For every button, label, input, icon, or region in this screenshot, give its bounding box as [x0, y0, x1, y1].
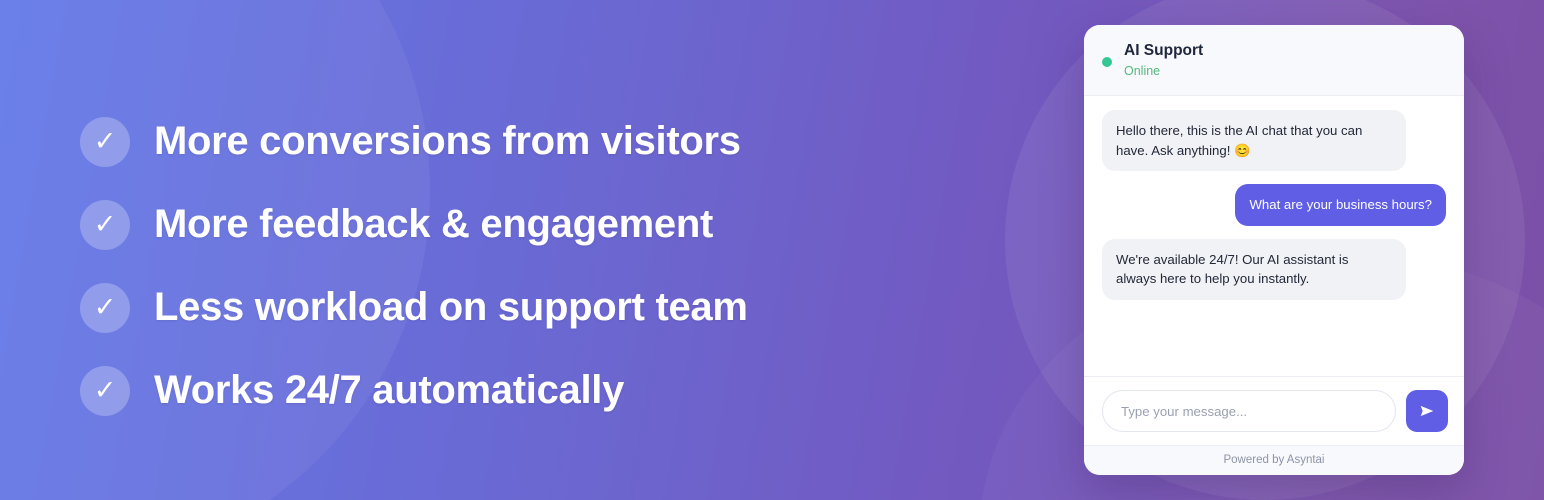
message-row-bot: Hello there, this is the AI chat that yo…	[1102, 110, 1446, 171]
check-icon: ✓	[80, 366, 130, 416]
chat-widget-header-text: AI Support Online	[1124, 41, 1203, 81]
feature-label: Works 24/7 automatically	[154, 368, 624, 413]
feature-item: ✓ Less workload on support team	[80, 266, 980, 349]
chat-widget-title: AI Support	[1124, 41, 1203, 60]
send-icon	[1418, 402, 1436, 420]
message-bubble-user: What are your business hours?	[1235, 184, 1446, 226]
feature-item: ✓ Works 24/7 automatically	[80, 349, 980, 432]
feature-item: ✓ More feedback & engagement	[80, 183, 980, 266]
message-row-bot: We're available 24/7! Our AI assistant i…	[1102, 239, 1446, 300]
online-status-dot	[1102, 57, 1112, 67]
feature-item: ✓ More conversions from visitors	[80, 100, 980, 183]
feature-label: Less workload on support team	[154, 285, 748, 330]
chat-widget-status: Online	[1124, 62, 1203, 81]
check-icon: ✓	[80, 200, 130, 250]
chat-widget: AI Support Online Hello there, this is t…	[1084, 25, 1464, 475]
hero-banner: ✓ More conversions from visitors ✓ More …	[0, 0, 1544, 500]
message-composer	[1084, 376, 1464, 445]
message-bubble-bot: We're available 24/7! Our AI assistant i…	[1102, 239, 1406, 300]
message-list: Hello there, this is the AI chat that yo…	[1084, 96, 1464, 376]
feature-label: More conversions from visitors	[154, 119, 741, 164]
message-row-user: What are your business hours?	[1102, 184, 1446, 226]
check-icon: ✓	[80, 117, 130, 167]
feature-list: ✓ More conversions from visitors ✓ More …	[80, 100, 980, 432]
message-bubble-bot: Hello there, this is the AI chat that yo…	[1102, 110, 1406, 171]
chat-widget-header: AI Support Online	[1084, 25, 1464, 96]
feature-label: More feedback & engagement	[154, 202, 713, 247]
message-input[interactable]	[1102, 390, 1396, 432]
chat-widget-footer: Powered by Asyntai	[1084, 445, 1464, 475]
check-icon: ✓	[80, 283, 130, 333]
send-button[interactable]	[1406, 390, 1448, 432]
